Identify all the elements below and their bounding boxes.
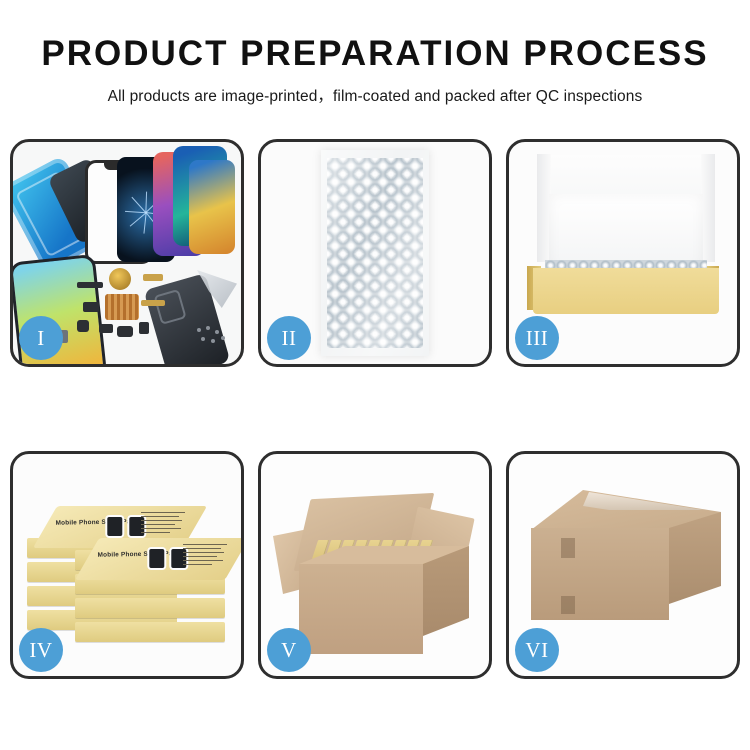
process-panel-1: I: [10, 139, 244, 367]
kraft-box-body: [533, 268, 719, 314]
carton-front-face: [531, 528, 669, 620]
flex-cable-icon: [141, 300, 165, 306]
box-label-text: Mobile Phone Spare Parts: [56, 518, 140, 526]
box-label-text: Mobile Phone Spare Parts: [98, 550, 182, 558]
step-badge-6: VI: [515, 628, 559, 672]
process-panel-6: VI: [506, 451, 740, 679]
flex-cable-icon: [143, 274, 163, 281]
camera-module-icon: [117, 326, 133, 337]
mesh-grille-icon: [105, 294, 139, 320]
box-art-screen-icon: [107, 517, 122, 536]
preparation-process-page: PRODUCT PREPARATION PROCESS All products…: [0, 0, 750, 750]
box-art-screen-icon: [149, 549, 164, 568]
carton-seam-mark: [561, 538, 575, 558]
bubble-wrap-sheet: [321, 150, 429, 356]
speaker-coil-icon: [109, 268, 131, 290]
step-badge-2: II: [267, 316, 311, 360]
process-panel-2: II: [258, 139, 492, 367]
step-badge-5: V: [267, 628, 311, 672]
page-subtitle: All products are image-printed，film-coat…: [0, 84, 750, 106]
chip-part-icon: [83, 302, 99, 312]
step-badge-3: III: [515, 316, 559, 360]
stacked-box: [75, 622, 225, 642]
plastic-glare-icon: [321, 150, 429, 356]
orange-gradient-phone-icon: [189, 160, 235, 254]
screws-group-icon: [197, 326, 231, 348]
chip-part-icon: [77, 282, 103, 288]
box-spec-lines: [183, 544, 229, 574]
process-panel-grid: I II III: [10, 139, 740, 679]
button-part-icon: [77, 320, 89, 332]
page-header: PRODUCT PREPARATION PROCESS All products…: [0, 0, 750, 106]
process-panel-3: III: [506, 139, 740, 367]
step-badge-4: IV: [19, 628, 63, 672]
carton-side-face: [669, 512, 721, 604]
connector-part-icon: [99, 324, 113, 333]
process-panel-4: Mobile Phone Spare Parts Mobile Phone Sp…: [10, 451, 244, 679]
step-badge-1: I: [19, 316, 63, 360]
carton-seam-mark: [561, 596, 575, 614]
sensor-part-icon: [139, 322, 149, 334]
process-panel-5: V: [258, 451, 492, 679]
page-title: PRODUCT PREPARATION PROCESS: [0, 36, 750, 73]
carton-front-face: [299, 564, 423, 654]
stacked-box: [75, 598, 225, 618]
printed-box-lid: Mobile Phone Spare Parts: [75, 538, 241, 580]
